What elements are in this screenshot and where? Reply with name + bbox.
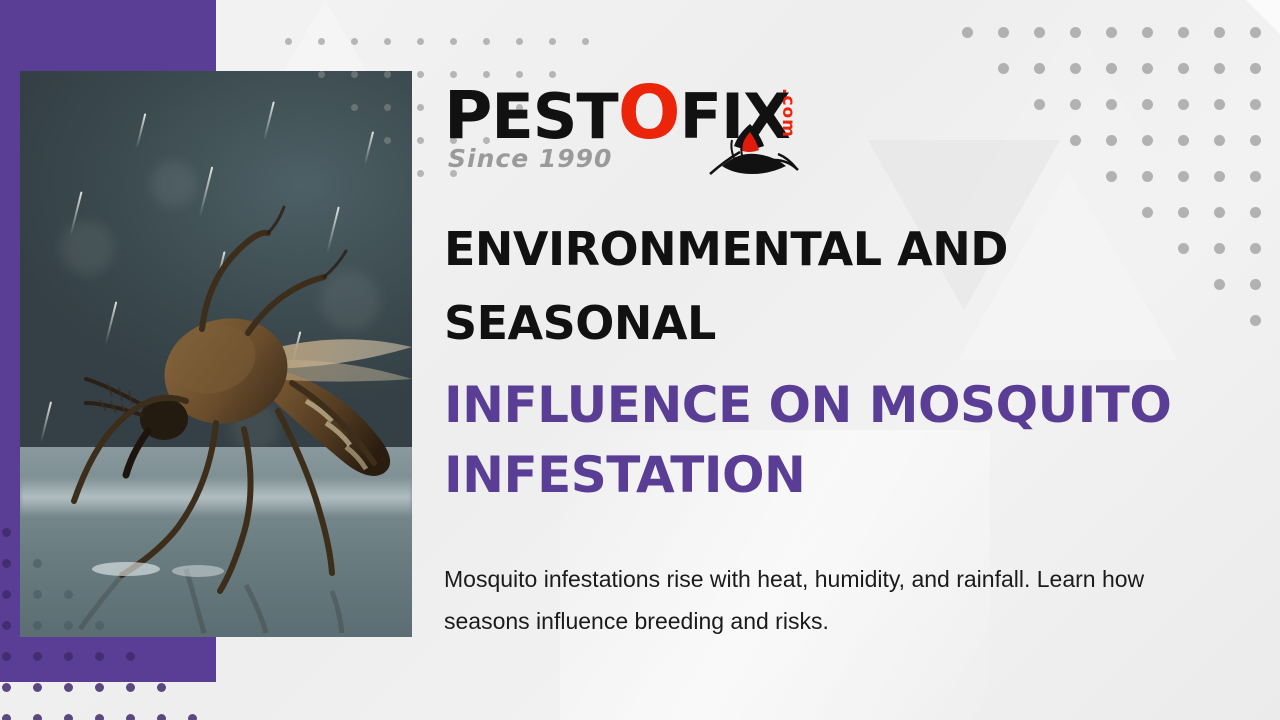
- decor-dot: [2, 621, 11, 630]
- decor-dot: [64, 652, 73, 661]
- decor-dot: [64, 590, 73, 599]
- decor-dot: [157, 714, 166, 720]
- decor-dot: [188, 714, 197, 720]
- decor-dot: [2, 590, 11, 599]
- decor-dot: [95, 621, 104, 630]
- brand-est: EST: [491, 80, 617, 153]
- decor-dot: [33, 683, 42, 692]
- decor-dot: [126, 714, 135, 720]
- decor-dot: [2, 559, 11, 568]
- brand-logo[interactable]: PESTOFIX .com Since 1990: [444, 82, 814, 182]
- brand-o-icon: O: [618, 70, 680, 156]
- decor-dot: [2, 528, 11, 537]
- brand-p: P: [444, 77, 491, 154]
- decor-dot: [33, 621, 42, 630]
- brand-tagline: Since 1990: [448, 144, 612, 173]
- decor-dot: [64, 714, 73, 720]
- decor-dot: [95, 714, 104, 720]
- decor-dot: [95, 683, 104, 692]
- decor-dot: [126, 652, 135, 661]
- decor-dot: [33, 559, 42, 568]
- decor-dot: [157, 683, 166, 692]
- headline-primary: ENVIRONMENTAL AND SEASONAL: [444, 212, 1064, 360]
- decor-dot: [2, 652, 11, 661]
- decor-dot: [126, 683, 135, 692]
- subtext-paragraph: Mosquito infestations rise with heat, hu…: [444, 558, 1212, 642]
- decor-dot: [33, 652, 42, 661]
- decor-dot: [33, 714, 42, 720]
- decor-dot: [33, 590, 42, 599]
- decor-dot: [2, 714, 11, 720]
- decor-dot: [64, 621, 73, 630]
- mosquito-icon: [704, 120, 800, 176]
- content-column: PESTOFIX .com Since 1990 ENVIRONMENTAL A…: [444, 0, 1214, 720]
- headline-secondary: INFLUENCE ON MOSQUITO INFESTATION: [444, 370, 1184, 510]
- decor-dot: [95, 652, 104, 661]
- decor-dot: [2, 683, 11, 692]
- decor-dot: [64, 683, 73, 692]
